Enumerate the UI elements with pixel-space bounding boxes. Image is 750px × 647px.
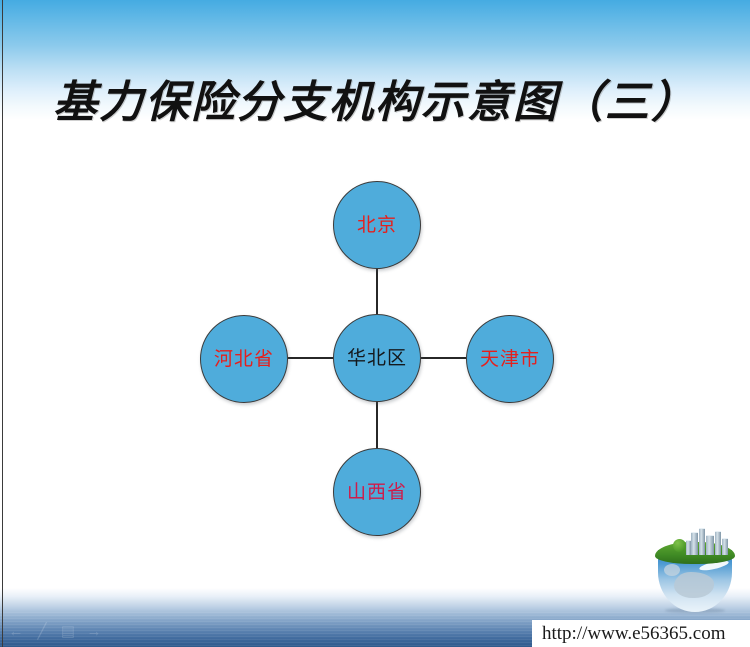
node-shanxi-province-label: 山西省 bbox=[347, 483, 407, 502]
building-icon bbox=[699, 528, 705, 555]
slide-navigation-controls[interactable]: ← ╱ ▤ → bbox=[8, 623, 108, 641]
globe-landmass-secondary bbox=[664, 564, 680, 576]
building-icon bbox=[706, 535, 714, 555]
earth-city-globe-icon bbox=[655, 532, 735, 612]
node-hebei-province-label: 河北省 bbox=[214, 350, 274, 369]
building-icon bbox=[722, 538, 728, 555]
forward-arrow-icon[interactable]: → bbox=[86, 624, 102, 640]
node-tianjin-city[interactable]: 天津市 bbox=[466, 315, 554, 403]
node-hebei-province[interactable]: 河北省 bbox=[200, 315, 288, 403]
node-tianjin-city-label: 天津市 bbox=[480, 350, 540, 369]
connector-center-to-top bbox=[376, 269, 378, 314]
globe-landmass bbox=[674, 572, 714, 598]
back-arrow-icon[interactable]: ← bbox=[8, 624, 24, 640]
page-icon[interactable]: ▤ bbox=[60, 624, 76, 640]
node-north-china-region[interactable]: 华北区 bbox=[333, 314, 421, 402]
pen-icon[interactable]: ╱ bbox=[34, 624, 50, 640]
presentation-slide: 基力保险分支机构示意图（三） 北京 河北省 华北区 天津市 山西省 bbox=[0, 0, 750, 647]
node-beijing-label: 北京 bbox=[357, 216, 397, 235]
building-icon bbox=[691, 532, 698, 555]
building-icon bbox=[686, 540, 691, 555]
node-north-china-region-label: 华北区 bbox=[347, 349, 407, 368]
node-beijing[interactable]: 北京 bbox=[333, 181, 421, 269]
connector-center-to-left bbox=[288, 357, 333, 359]
connector-center-to-right bbox=[421, 357, 466, 359]
connector-center-to-bottom bbox=[376, 402, 378, 448]
url-plate: http://www.e56365.com bbox=[532, 620, 750, 647]
node-shanxi-province[interactable]: 山西省 bbox=[333, 448, 421, 536]
website-url[interactable]: http://www.e56365.com bbox=[542, 623, 725, 645]
building-icon bbox=[715, 531, 721, 555]
tree-icon bbox=[673, 539, 686, 552]
org-chart-diagram: 北京 河北省 华北区 天津市 山西省 bbox=[0, 0, 750, 647]
